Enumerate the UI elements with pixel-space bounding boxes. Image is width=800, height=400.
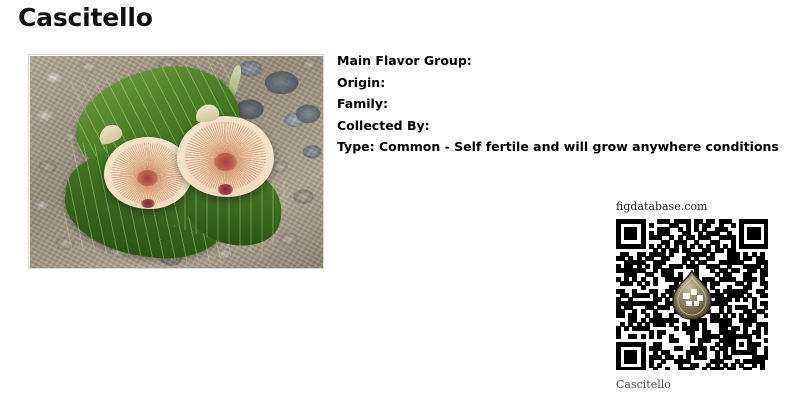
fig-eye [218, 184, 234, 195]
qr-site-label: figdatabase.com [616, 200, 794, 213]
fig-photo-frame [28, 54, 324, 269]
qr-caption: Cascitello [616, 378, 794, 391]
fig-info-block: Main Flavor Group: Origin: Family: Colle… [337, 50, 800, 158]
info-line-main-flavor-group: Main Flavor Group: [337, 50, 800, 72]
fig-half-right [177, 116, 274, 197]
info-line-collected-by: Collected By: [337, 115, 800, 137]
qr-block: figdatabase.com Cascitello [616, 200, 794, 391]
fig-logo-icon [669, 270, 715, 320]
fig-eye [141, 199, 155, 208]
fig-photo [30, 56, 324, 269]
info-line-origin: Origin: [337, 72, 800, 94]
info-line-type: Type: Common - Self fertile and will gro… [337, 136, 800, 158]
page-title: Cascitello [18, 3, 153, 32]
fig-core [214, 153, 237, 171]
qr-code[interactable] [616, 219, 768, 370]
info-line-family: Family: [337, 93, 800, 115]
